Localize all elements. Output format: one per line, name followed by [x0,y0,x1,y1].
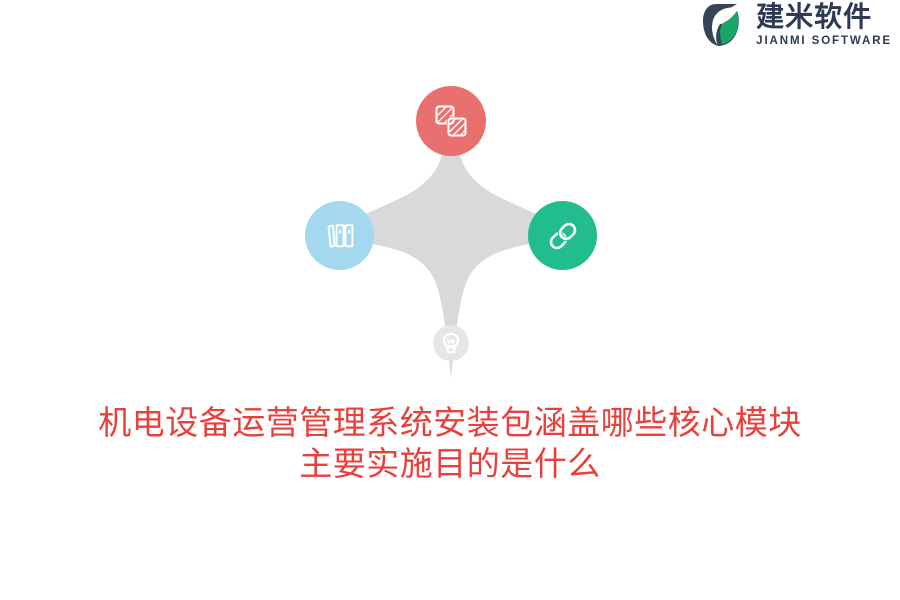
node-left-archive[interactable] [305,201,374,270]
chain-link-icon [546,219,580,253]
node-right-link[interactable] [528,201,597,270]
node-top-copy[interactable] [416,86,486,156]
brand-text: 建米软件 JIANMI SOFTWARE [756,3,892,48]
lightbulb-icon [441,332,461,354]
node-bottom-idea[interactable] [433,325,469,361]
page-title-line-2: 主要实施目的是什么 [0,443,900,484]
brand-logo: 建米软件 JIANMI SOFTWARE [702,0,892,50]
brand-name-cn: 建米软件 [756,3,892,31]
jianmi-logo-mark-icon [702,3,748,47]
page-title-line-1: 机电设备运营管理系统安装包涵盖哪些核心模块 [0,402,900,443]
books-archive-icon [324,220,356,252]
brand-name-en: JIANMI SOFTWARE [756,36,892,48]
page-title: 机电设备运营管理系统安装包涵盖哪些核心模块 主要实施目的是什么 [0,402,900,484]
central-graphic [281,60,621,390]
copy-layers-icon [434,104,468,138]
